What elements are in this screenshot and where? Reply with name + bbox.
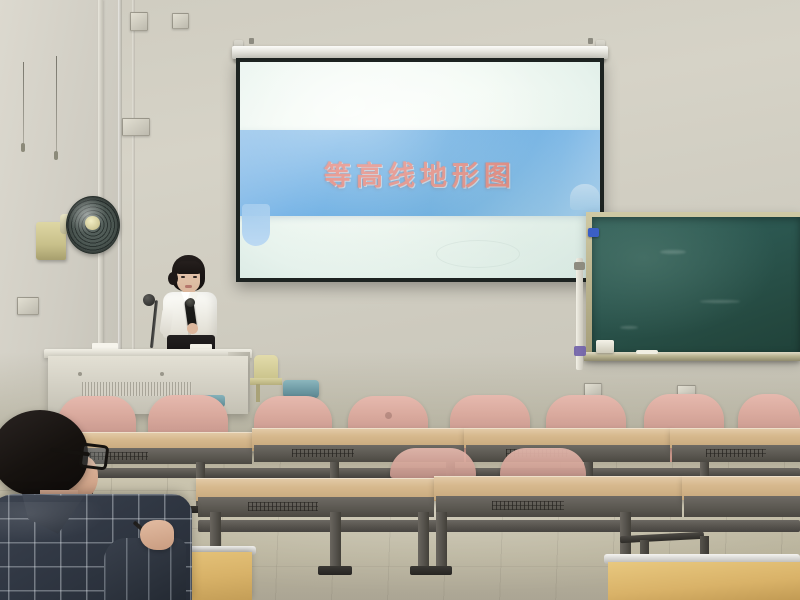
rail-clip-bottom[interactable] [574, 346, 586, 356]
light-switch-plate[interactable] [130, 12, 148, 31]
desk-leg [418, 512, 429, 570]
chair-knob [385, 412, 392, 419]
conduit-pipe-secondary [132, 0, 135, 400]
presenter-hair-bun [168, 272, 178, 285]
fan-switch-plate[interactable] [17, 297, 39, 315]
seated-observer [0, 398, 212, 600]
chair-back-front-row[interactable] [390, 448, 476, 478]
side-chair-seat[interactable] [250, 378, 282, 385]
classroom-scene: 等高线地形图 [0, 0, 800, 600]
chalk-smudge [660, 250, 686, 254]
screen-screw-left [249, 38, 254, 44]
foreground-desk-right[interactable] [608, 562, 800, 600]
screen-screw-right [588, 38, 593, 44]
desk-vent-perforation [492, 501, 564, 510]
slide-title: 等高线地形图 [240, 154, 600, 193]
desk-apron [684, 496, 800, 517]
slide-faint-marking [436, 240, 520, 268]
chair-back-front-row[interactable] [500, 448, 586, 478]
chalk-smudge [620, 326, 638, 329]
fan-cord-knob-b[interactable] [54, 151, 58, 160]
gooseneck-microphone-head[interactable] [143, 294, 155, 306]
side-chair-back[interactable] [254, 355, 278, 379]
desk-foot [410, 566, 452, 575]
fan-hub [85, 216, 100, 230]
chalk-smudge [700, 300, 740, 303]
wall-junction-box[interactable] [122, 118, 150, 136]
eyeglasses-icon [79, 442, 110, 470]
wall-fan[interactable] [36, 194, 118, 274]
electrical-outlet-plate[interactable] [172, 13, 189, 29]
presenter [155, 255, 229, 355]
observer-hand [140, 520, 174, 550]
desk-row-rail-front [198, 520, 800, 532]
chalkboard-surface[interactable] [592, 217, 800, 353]
desk-vent-perforation [248, 502, 318, 511]
desk-leg [436, 512, 447, 570]
fan-pull-cord-speed[interactable] [23, 62, 24, 144]
podium-screw [78, 372, 82, 376]
presenter-eye-right [193, 276, 197, 278]
fan-pull-cord-power[interactable] [56, 56, 57, 152]
fan-cord-knob-a[interactable] [21, 143, 25, 152]
chalk-stick[interactable] [636, 350, 658, 354]
podium-screw [160, 372, 164, 376]
blue-magnet-icon[interactable] [588, 228, 599, 237]
desk-vent-perforation [292, 449, 354, 457]
desk-foot [318, 566, 352, 575]
presenter-eye-left [181, 276, 185, 278]
rail-clip-top[interactable] [574, 262, 585, 270]
scroll-roll-bottom-left [242, 204, 270, 246]
presenter-fringe [175, 261, 202, 274]
observer-arm [104, 538, 186, 600]
chalk-ledge [584, 352, 800, 361]
microphone-grille-icon [186, 298, 195, 307]
side-chair-leg [256, 384, 260, 402]
presenter-hand [187, 323, 198, 334]
desk-vent-perforation [706, 449, 766, 457]
chalk-eraser[interactable] [596, 340, 614, 353]
podium-vent-grille [82, 382, 192, 396]
desk-leg [330, 512, 341, 570]
projection-screen-surface[interactable]: 等高线地形图 [240, 62, 600, 278]
